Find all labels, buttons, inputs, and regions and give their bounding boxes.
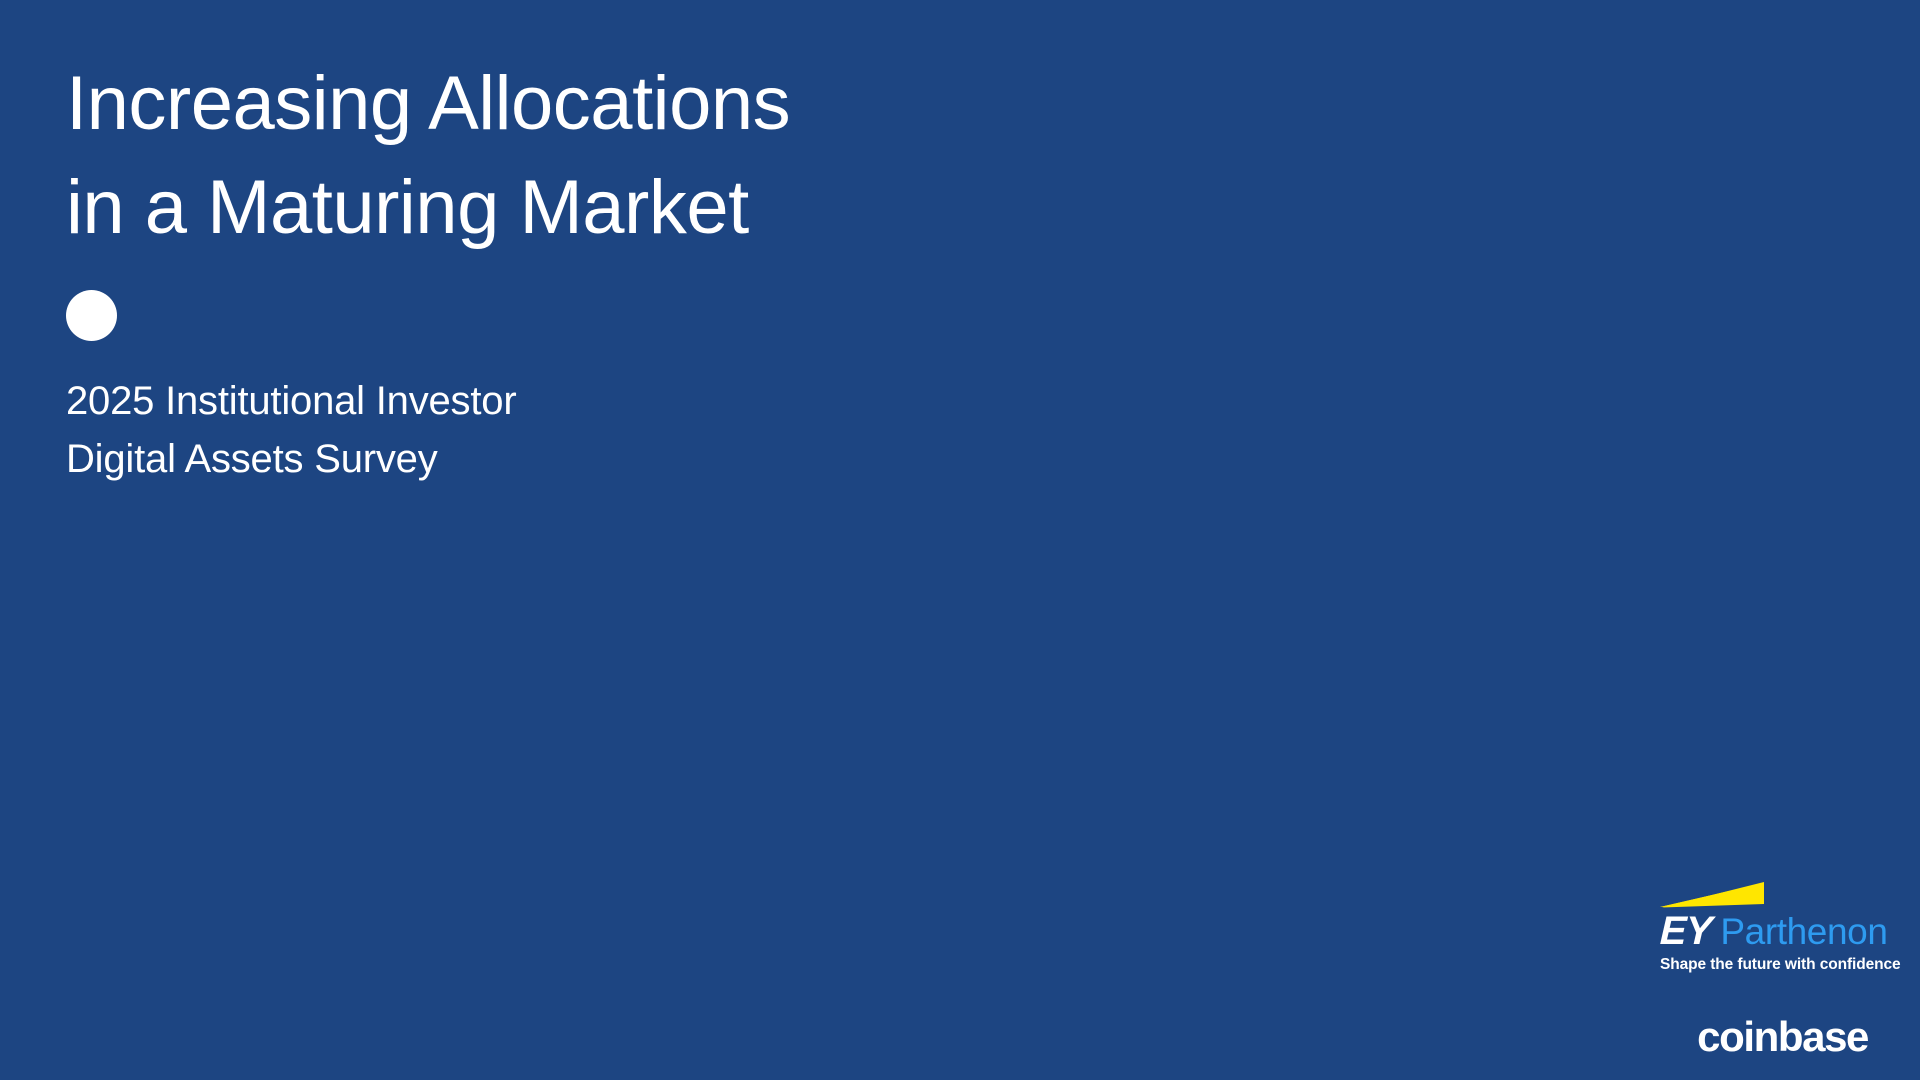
- ey-mark: EY: [1659, 911, 1712, 951]
- page-title: Increasing Allocations in a Maturing Mar…: [66, 52, 1166, 260]
- page-subtitle: 2025 Institutional Investor Digital Asse…: [66, 372, 966, 488]
- title-line-2: in a Maturing Market: [66, 156, 1166, 260]
- ey-tagline: Shape the future with confidence: [1660, 956, 1868, 974]
- logo-stack: EY Parthenon Shape the future with confi…: [1660, 879, 1868, 1058]
- coinbase-logo: coinbase: [1697, 1016, 1868, 1058]
- title-line-1: Increasing Allocations: [66, 52, 1166, 156]
- title-slide: Increasing Allocations in a Maturing Mar…: [0, 0, 1920, 1080]
- circle-bullet-icon: [66, 290, 117, 341]
- subtitle-line-2: Digital Assets Survey: [66, 430, 966, 488]
- ey-wordmark-row: EY Parthenon: [1660, 911, 1868, 952]
- subtitle-line-1: 2025 Institutional Investor: [66, 372, 966, 430]
- ey-parthenon-logo: EY Parthenon Shape the future with confi…: [1660, 879, 1868, 974]
- parthenon-mark: Parthenon: [1720, 912, 1887, 952]
- ey-swoosh-icon: [1660, 879, 1868, 909]
